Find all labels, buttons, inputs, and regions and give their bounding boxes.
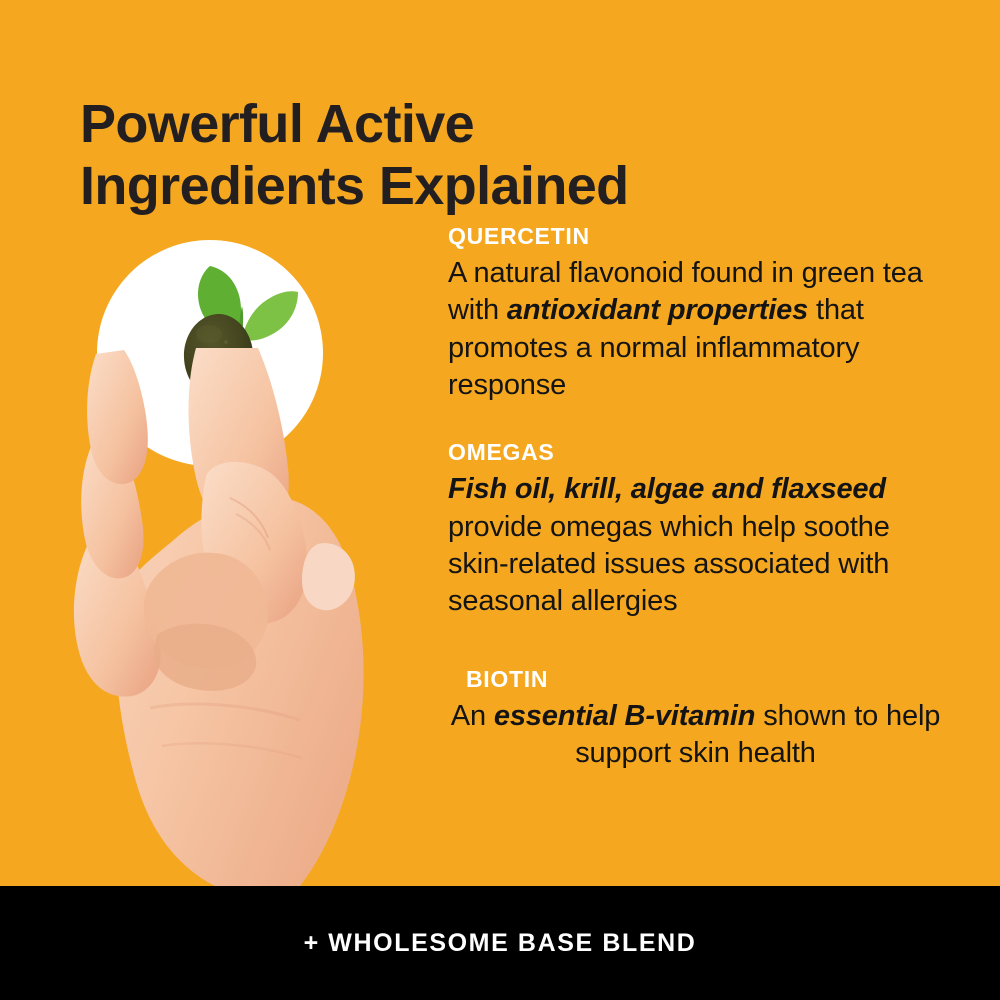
ingredient-title-biotin: BIOTIN [466,665,953,694]
ingredient-body-omegas: Fish oil, krill, algae and flaxseed prov… [448,471,953,621]
ingredient-block-biotin: BIOTIN An essential B-vitamin shown to h… [448,665,953,773]
ingredient-block-omegas: OMEGAS Fish oil, krill, algae and flaxse… [448,438,953,620]
ingredient-title-quercetin: QUERCETIN [448,222,953,251]
footer-banner: + WHOLESOME BASE BLEND [0,886,1000,1000]
ingredient-text-part: provide omegas which help soothe skin-re… [448,511,890,618]
product-visual [0,228,420,888]
ingredient-list: QUERCETIN A natural flavonoid found in g… [448,222,953,772]
ingredient-title-omegas: OMEGAS [448,438,953,467]
poster-canvas: Powerful Active Ingredients Explained [0,0,1000,1000]
ingredient-emphasis: Fish oil, krill, algae and flaxseed [448,473,886,505]
ingredient-block-quercetin: QUERCETIN A natural flavonoid found in g… [448,222,953,404]
ingredient-emphasis: antioxidant properties [507,294,808,326]
footer-banner-text: + WHOLESOME BASE BLEND [304,929,697,958]
ingredient-emphasis: essential B-vitamin [494,700,755,732]
ingredient-body-quercetin: A natural flavonoid found in green tea w… [448,255,953,405]
ingredient-text-part: An [451,700,494,732]
page-title: Powerful Active Ingredients Explained [80,94,840,217]
ingredient-body-biotin: An essential B-vitamin shown to help sup… [448,698,953,773]
hand-holding-chew [0,348,420,888]
